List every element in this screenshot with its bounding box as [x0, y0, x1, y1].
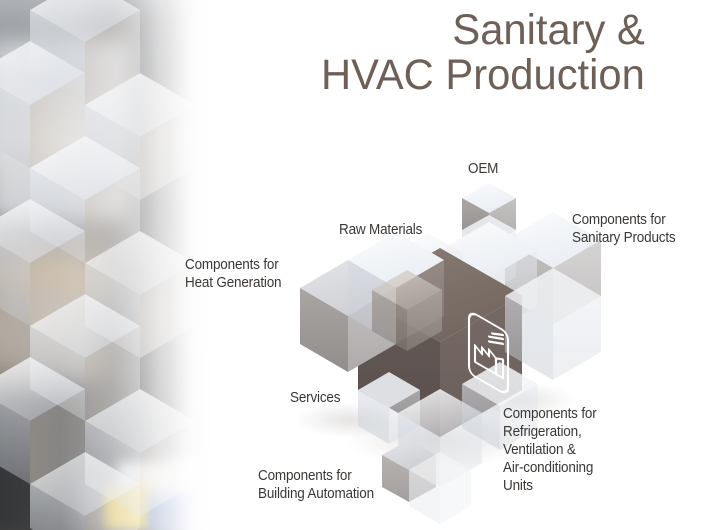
diagram-label-services: Services [290, 389, 340, 407]
diagram-label-components-refrigeration-ventilation-airconditioning: Components for Refrigeration, Ventilatio… [503, 405, 597, 495]
diagram-label-components-building-automation: Components for Building Automation [258, 467, 374, 503]
slide-canvas: Sanitary & HVAC Production [0, 0, 701, 530]
diagram-label-oem: OEM [468, 160, 498, 178]
diagram-label-raw-materials: Raw Materials [339, 221, 422, 239]
diagram-label-components-sanitary-products: Components for Sanitary Products [572, 211, 676, 247]
diagram-label-components-heat-generation: Components for Heat Generation [185, 256, 281, 292]
